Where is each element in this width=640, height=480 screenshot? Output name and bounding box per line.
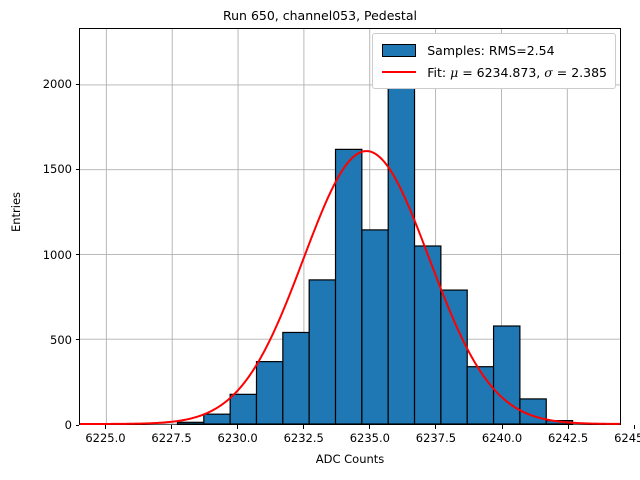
legend[interactable]: Samples: RMS=2.54 Fit: μ = 6234.873, σ =… [372,33,616,89]
x-tick-label: 6237.5 [416,431,456,445]
legend-label-fit: Fit: μ = 6234.873, σ = 2.385 [427,65,607,80]
y-tick-label: 1500 [17,162,72,176]
y-tick-label: 0 [17,418,72,432]
x-tick-label: 6230.0 [218,431,258,445]
y-axis-label: Entries [9,132,23,292]
x-tick-mark [105,425,106,429]
legend-item-samples[interactable]: Samples: RMS=2.54 [380,39,607,61]
x-tick-label: 6242.5 [548,431,588,445]
x-tick-label: 6232.5 [284,431,324,445]
x-tick-mark [369,425,370,429]
y-tick-mark [76,339,80,340]
x-tick-label: 6245.0 [614,431,640,445]
plot-axes: Samples: RMS=2.54 Fit: μ = 6234.873, σ =… [79,28,621,425]
x-tick-label: 6240.0 [482,431,522,445]
y-tick-label: 1000 [17,248,72,262]
x-tick-mark [502,425,503,429]
histogram-figure: Run 650, channel053, Pedestal Samples: R… [0,0,640,480]
x-tick-mark [435,425,436,429]
y-tick-mark [76,425,80,426]
page-title: Run 650, channel053, Pedestal [0,8,640,23]
legend-item-fit[interactable]: Fit: μ = 6234.873, σ = 2.385 [380,61,607,83]
y-tick-label: 500 [17,333,72,347]
x-tick-mark [634,425,635,429]
x-tick-mark [171,425,172,429]
y-tick-mark [76,84,80,85]
x-tick-mark [303,425,304,429]
x-tick-mark [237,425,238,429]
legend-swatch-fit-icon [380,65,418,79]
y-tick-label: 2000 [17,77,72,91]
y-tick-mark [76,254,80,255]
x-tick-label: 6225.0 [85,431,125,445]
x-axis-label: ADC Counts [79,452,621,466]
y-tick-mark [76,169,80,170]
x-tick-label: 6235.0 [350,431,390,445]
x-tick-label: 6227.5 [151,431,191,445]
legend-swatch-samples-icon [380,43,418,57]
legend-label-samples: Samples: RMS=2.54 [427,43,554,58]
x-tick-mark [568,425,569,429]
